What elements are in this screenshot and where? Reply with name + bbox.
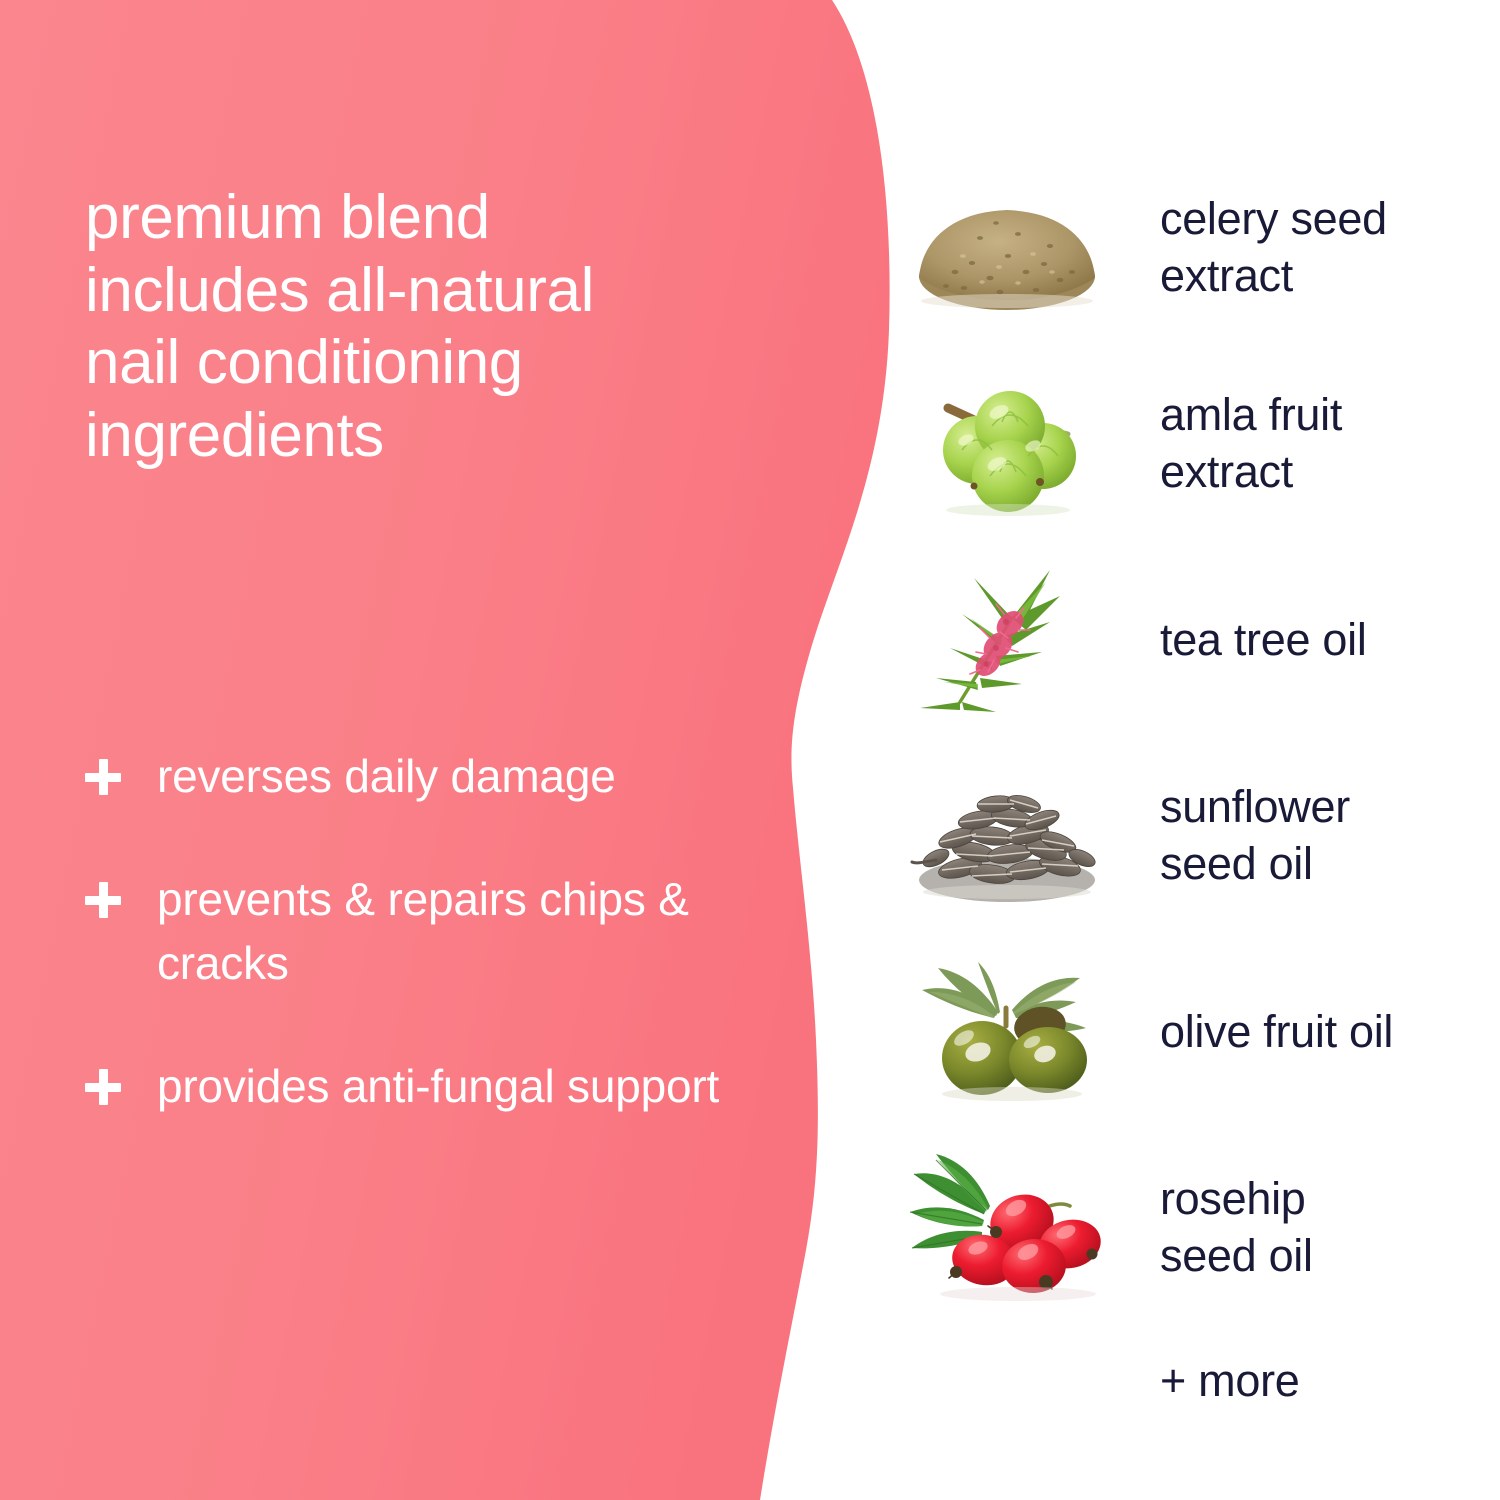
- label-line: extract: [1160, 444, 1342, 501]
- ingredient-row-tea-tree-oil: tea tree oil: [900, 542, 1480, 738]
- plus-icon: [85, 759, 121, 795]
- ingredient-label: celery seed extract: [1115, 191, 1387, 304]
- benefit-item: reverses daily damage: [85, 745, 775, 808]
- headline-line-3: nail conditioning: [85, 327, 765, 400]
- benefit-item: provides anti-fungal support: [85, 1055, 775, 1118]
- plus-icon: [85, 882, 121, 918]
- celery-seed-pile-image: [900, 168, 1115, 328]
- headline-line-2: includes all-natural: [85, 255, 765, 328]
- label-line: seed oil: [1160, 1228, 1313, 1285]
- label-line: sunflower: [1160, 779, 1350, 836]
- amla-fruit-image: [900, 364, 1115, 524]
- ingredient-label: olive fruit oil: [1115, 1004, 1393, 1061]
- ingredient-row-olive-fruit-oil: olive fruit oil: [900, 934, 1480, 1130]
- more-ingredients-row: + more: [900, 1326, 1480, 1436]
- label-line: olive fruit oil: [1160, 1004, 1393, 1061]
- olive-fruit-image: [900, 952, 1115, 1112]
- benefit-label: reverses daily damage: [157, 745, 616, 808]
- benefit-item: prevents & repairs chips & cracks: [85, 868, 775, 995]
- benefit-label: provides anti-fungal support: [157, 1055, 719, 1118]
- benefits-list: reverses daily damage prevents & repairs…: [85, 745, 775, 1119]
- label-line: seed oil: [1160, 836, 1350, 893]
- label-line: rosehip: [1160, 1171, 1313, 1228]
- ingredient-label: rosehip seed oil: [1115, 1171, 1313, 1284]
- headline-line-4: ingredients: [85, 400, 765, 473]
- label-line: tea tree oil: [1160, 612, 1367, 669]
- ingredient-label: amla fruit extract: [1115, 387, 1342, 500]
- rosehip-berries-image: [900, 1148, 1115, 1308]
- ingredient-row-amla-fruit: amla fruit extract: [900, 346, 1480, 542]
- more-label: + more: [1160, 1355, 1300, 1407]
- label-line: amla fruit: [1160, 387, 1342, 444]
- page-headline: premium blend includes all-natural nail …: [85, 182, 765, 472]
- ingredient-row-celery-seed: celery seed extract: [900, 150, 1480, 346]
- ingredient-row-sunflower-seed-oil: sunflower seed oil: [900, 738, 1480, 934]
- left-marketing-panel: premium blend includes all-natural nail …: [0, 0, 790, 1500]
- ingredients-list: celery seed extract: [900, 150, 1480, 1436]
- tea-tree-sprig-image: [900, 560, 1115, 720]
- label-line: celery seed: [1160, 191, 1387, 248]
- ingredient-label: tea tree oil: [1115, 612, 1367, 669]
- ingredient-row-rosehip-seed-oil: rosehip seed oil: [900, 1130, 1480, 1326]
- label-line: extract: [1160, 248, 1387, 305]
- sunflower-seed-pile-image: [900, 756, 1115, 916]
- benefit-label: prevents & repairs chips & cracks: [157, 868, 757, 995]
- headline-line-1: premium blend: [85, 182, 765, 255]
- ingredient-label: sunflower seed oil: [1115, 779, 1350, 892]
- plus-icon: [85, 1069, 121, 1105]
